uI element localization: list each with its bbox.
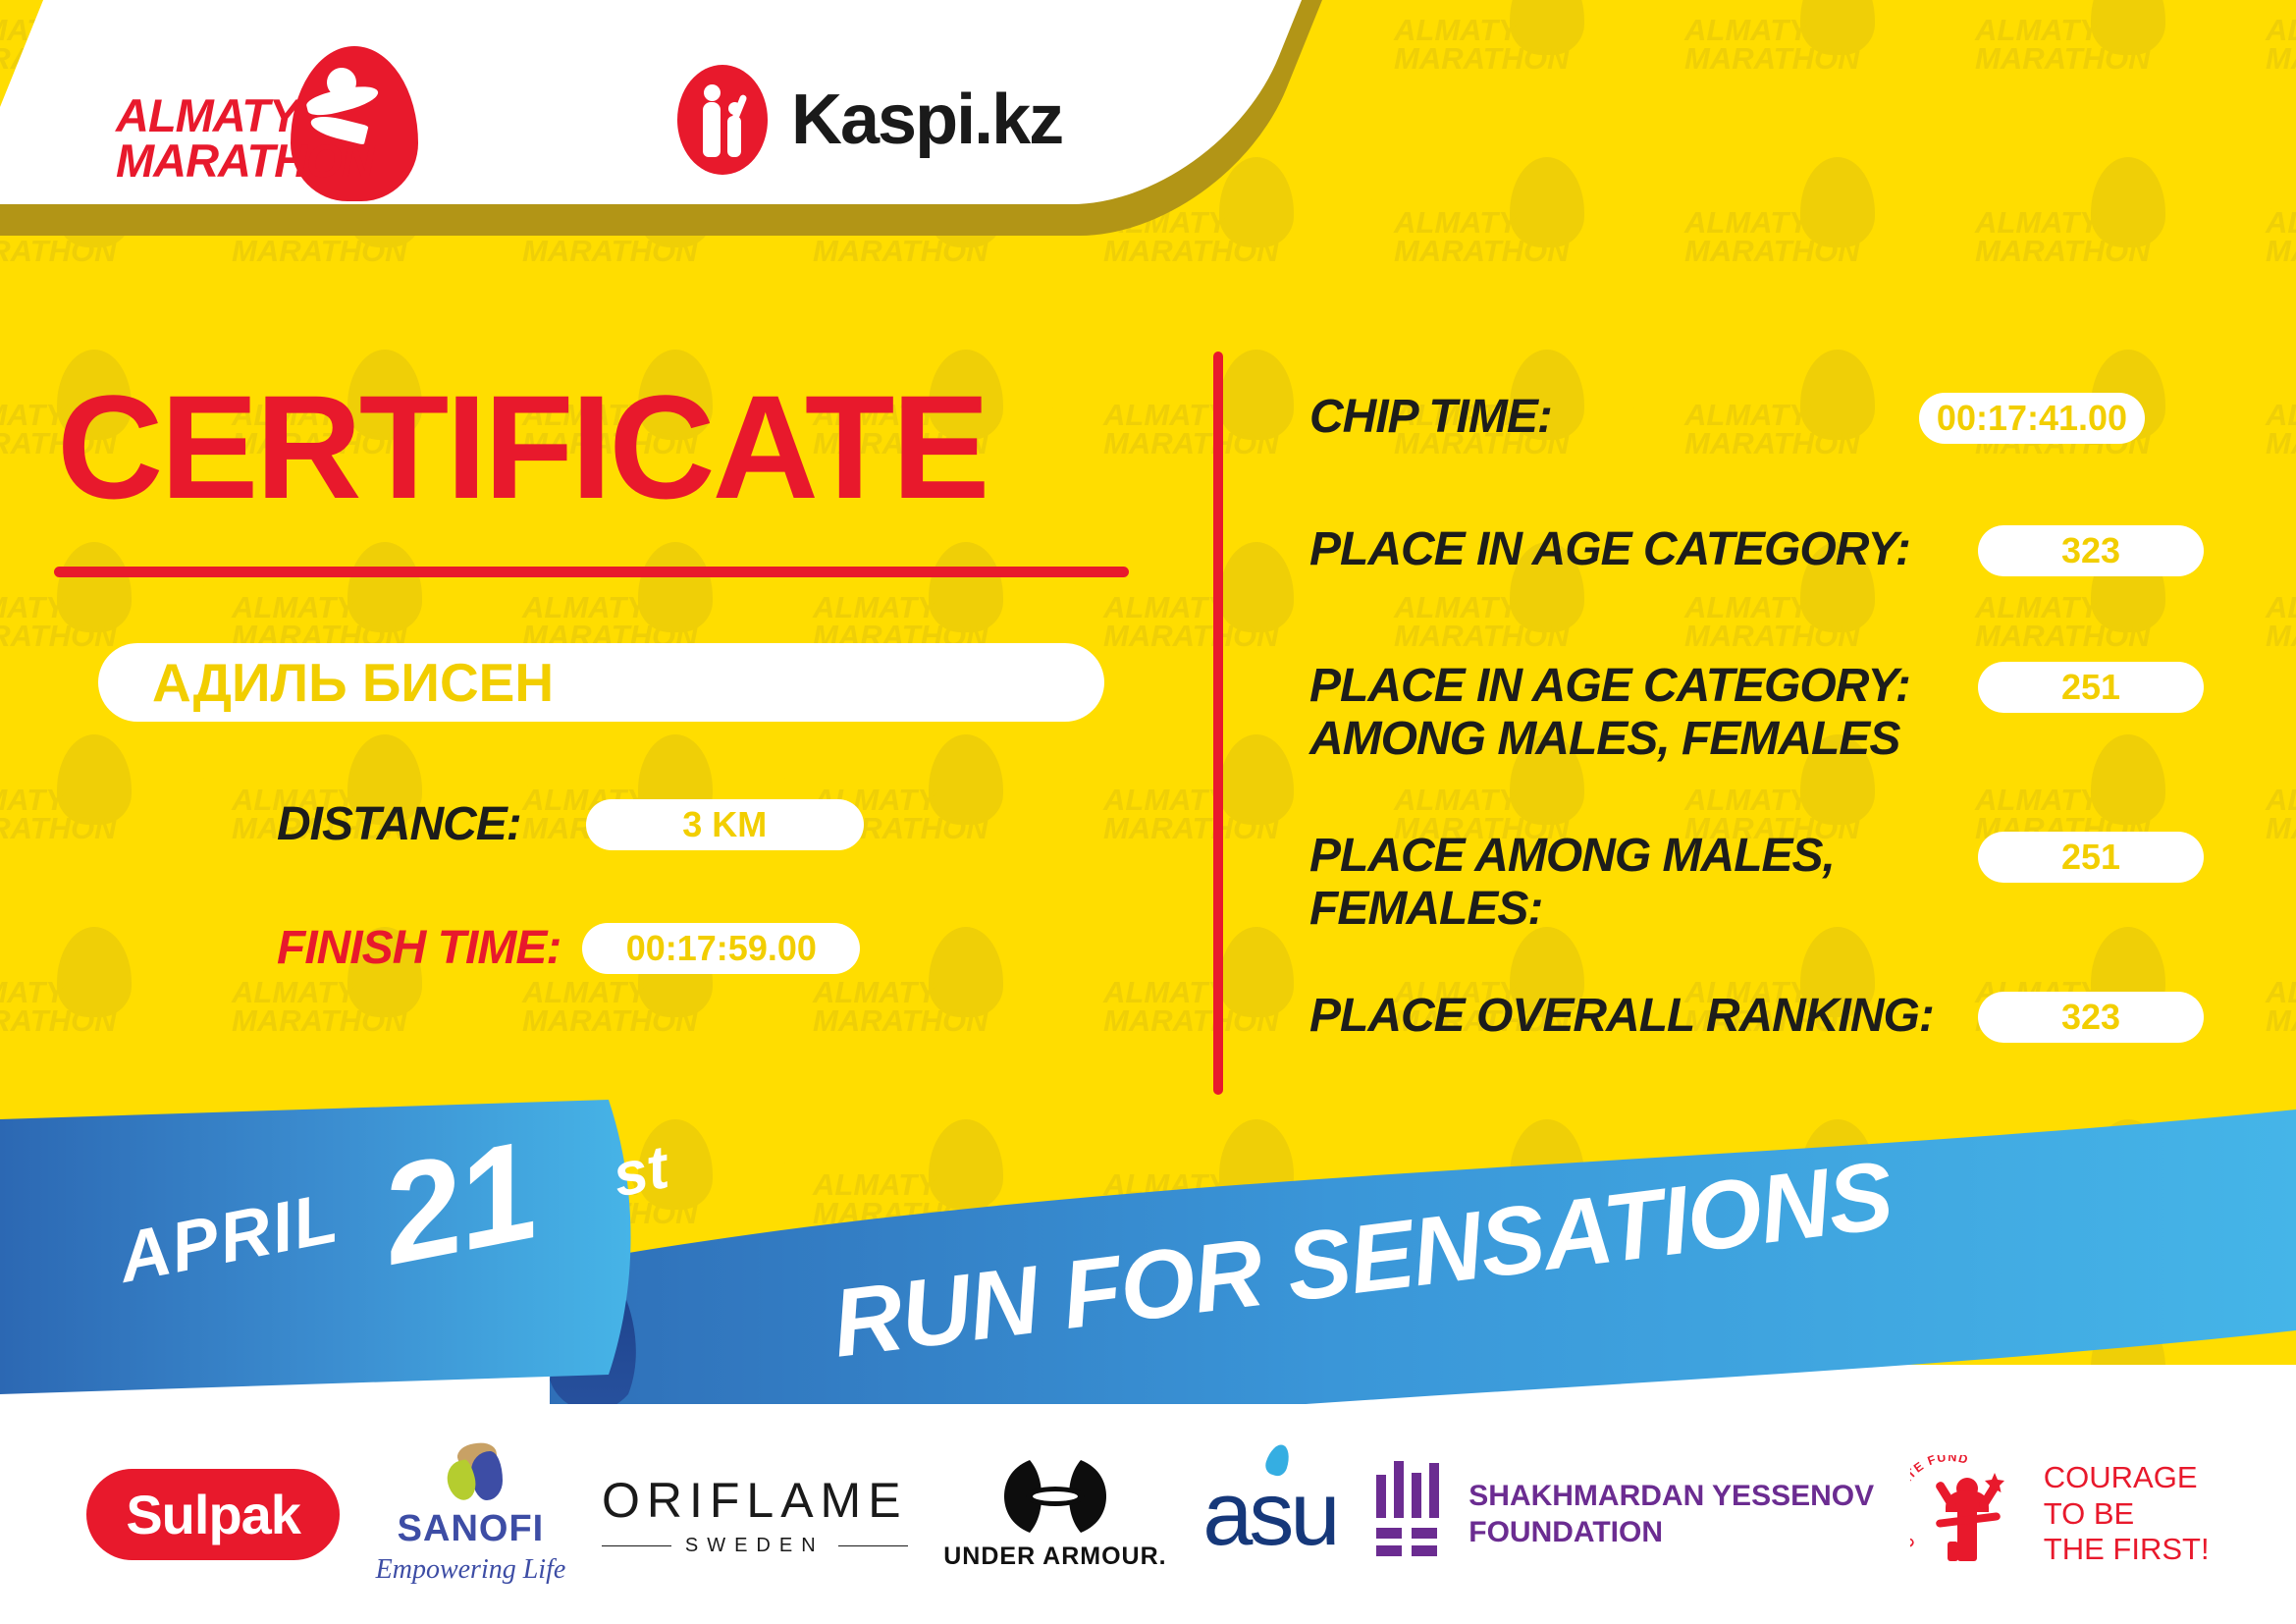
sponsor-yessenov-foundation: SHAKHMARDAN YESSENOV FOUNDATION [1372,1440,1874,1588]
brand-line-2: MARATHON [116,135,374,187]
asu-wordmark: asu [1202,1469,1336,1559]
watermark-tile: ALMATYMARATHON [1975,153,2213,310]
watermark-tile: ALMATYMARATHON [0,923,179,1080]
watermark-tile: ALMATYMARATHON [1684,153,1922,310]
watermark-tile: ALMATYMARATHON [2266,346,2296,503]
participant-name-field: АДИЛЬ БИСЕН [98,643,1104,722]
watermark-tile: ALMATYMARATHON [2266,923,2296,1080]
sponsor-under-armour: UNDER ARMOUR. [943,1440,1166,1588]
event-ribbon: APRIL 21 st RUN FOR SENSATIONS [0,1100,2296,1424]
yessenov-wordmark: SHAKHMARDAN YESSENOV FOUNDATION [1468,1478,1874,1551]
result-label: PLACE OVERALL RANKING: [1309,990,1934,1043]
watermark-tile: ALMATYMARATHON [0,731,179,888]
watermark-tile: ALMATYMARATHON [1394,0,1631,118]
courage-mark-svg: CORPORATE FUND [1910,1455,2026,1573]
sulpak-wordmark: Sulpak [86,1469,340,1560]
sponsor-oriflame: ORIFLAME SWEDEN [602,1440,908,1588]
kaspi-people-icon [677,65,768,175]
kaspi-wordmark: Kaspi.kz [791,80,1062,160]
result-label: PLACE AMONG MALES, FEMALES: [1309,830,1835,936]
almaty-marathon-wordmark: ALMATYMARATHON [116,93,374,184]
participant-name-value: АДИЛЬ БИСЕН [98,651,554,714]
oriflame-wordmark: ORIFLAME [602,1472,908,1529]
watermark-tile: ALMATYMARATHON [1684,346,1922,503]
result-row-chip-time: CHIP TIME: [1309,391,1552,444]
watermark-tile: ALMATYMARATHON [2266,538,2296,695]
finish-time-value: 00:17:59.00 [626,928,817,969]
sanofi-wordmark: SANOFI [398,1508,545,1550]
sanofi-leaf-icon [436,1443,505,1504]
sponsor-sanofi: SANOFI Empowering Life [376,1440,566,1588]
sponsor-sulpak: Sulpak [86,1440,340,1588]
result-label: CHIP TIME: [1309,391,1552,444]
result-label: PLACE IN AGE CATEGORY: AMONG MALES, FEMA… [1309,660,1910,766]
result-value-pill-place-age-category: 323 [1978,525,2204,576]
brand-line-1: ALMATY [116,89,298,141]
courage-figure-icon: CORPORATE FUND [1910,1455,2026,1573]
result-value: 251 [2061,667,2120,708]
watermark-tile: ALMATYMARATHON [2266,153,2296,310]
result-value: 323 [2061,997,2120,1038]
distance-label: DISTANCE: [277,797,521,851]
header-logos: ALMATYMARATHON Kaspi.kz [0,0,1178,245]
watermark-tile: ALMATYMARATHON [2266,731,2296,888]
oriflame-country: SWEDEN [685,1535,825,1557]
finish-time-value-pill: 00:17:59.00 [582,923,860,974]
yessenov-bars-icon [1372,1459,1445,1569]
under-armour-wordmark: UNDER ARMOUR. [943,1543,1166,1571]
result-value-pill-place-overall: 323 [1978,992,2204,1043]
watermark-tile: ALMATYMARATHON [1394,153,1631,310]
result-label: PLACE IN AGE CATEGORY: [1309,523,1910,576]
sponsor-asu: asu [1202,1440,1336,1588]
kaspi-logo: Kaspi.kz [677,61,1062,179]
result-row-place-overall: PLACE OVERALL RANKING: [1309,990,1934,1043]
distance-value-pill: 3 KM [586,799,864,850]
watermark-tile: ALMATYMARATHON [1975,0,2213,118]
distance-row: DISTANCE: 3 KM [277,797,864,851]
result-value-pill-place-among-gender: 251 [1978,832,2204,883]
certificate-page: ALMATYMARATHONALMATYMARATHONALMATYMARATH… [0,0,2296,1624]
under-armour-icon [996,1458,1114,1535]
courage-wordmark: COURAGE TO BE THE FIRST! [2044,1460,2210,1568]
page-title: CERTIFICATE [57,373,988,520]
finish-time-label: FINISH TIME: [277,921,561,975]
divider-line-right [838,1545,908,1546]
distance-value: 3 KM [682,804,767,845]
result-row-place-among-gender: PLACE AMONG MALES, FEMALES: [1309,830,1835,936]
column-divider [1213,352,1223,1095]
divider-line-left [602,1545,671,1546]
result-row-place-age-category: PLACE IN AGE CATEGORY: [1309,523,1910,576]
sponsor-courage-fund: CORPORATE FUND COURAGE TO BE THE FIRST! [1910,1440,2210,1588]
result-value: 251 [2061,837,2120,878]
result-value-pill-place-age-category-gender: 251 [1978,662,2204,713]
almaty-marathon-logo: ALMATYMARATHON [116,54,440,182]
finish-time-row: FINISH TIME: 00:17:59.00 [277,921,860,975]
result-row-place-age-category-gender: PLACE IN AGE CATEGORY: AMONG MALES, FEMA… [1309,660,1910,766]
watermark-tile: ALMATYMARATHON [1684,0,1922,118]
result-value: 00:17:41.00 [1937,398,2127,439]
result-value: 323 [2061,530,2120,571]
result-value-pill-chip-time: 00:17:41.00 [1919,393,2145,444]
ribbon-day: 21 [369,1110,548,1297]
watermark-tile: ALMATYMARATHON [2266,0,2296,118]
sponsor-strip: Sulpak SANOFI Empowering Life ORIFLAME S… [0,1404,2296,1624]
oriflame-sub: SWEDEN [602,1535,908,1557]
sanofi-tagline: Empowering Life [376,1554,566,1586]
title-underline-rule [54,567,1129,577]
